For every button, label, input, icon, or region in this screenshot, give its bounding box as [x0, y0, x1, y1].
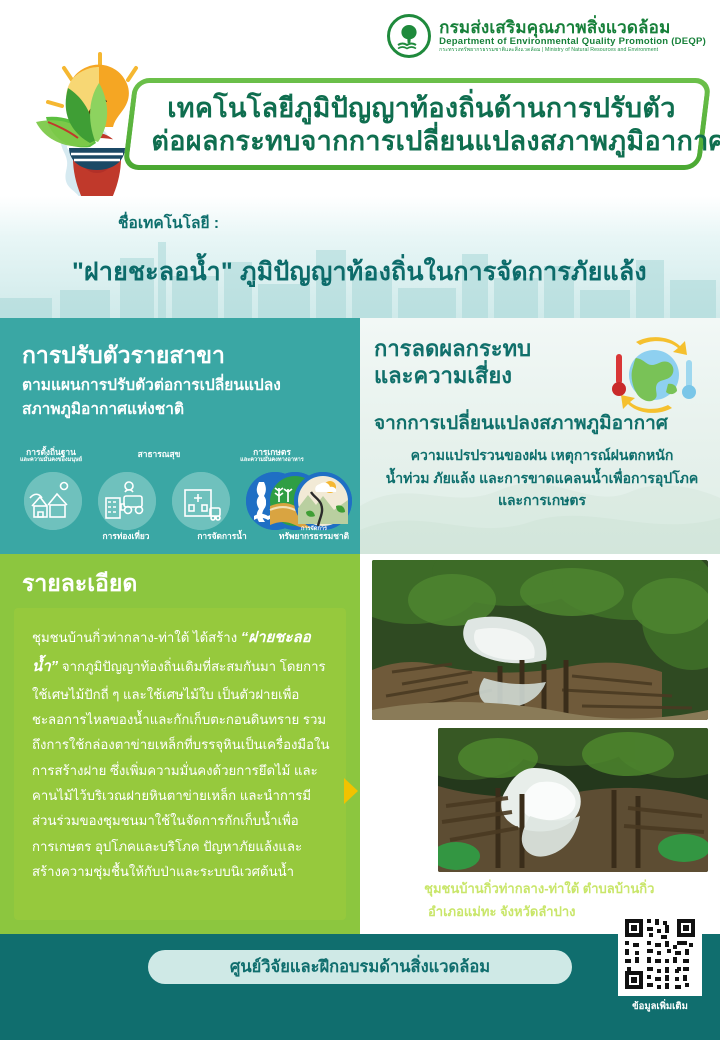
details-text-part1: ชุมชนบ้านกิ่วท่ากลาง-ท่าใต้ ได้สร้าง [32, 630, 241, 645]
details-title: รายละเอียด [22, 566, 137, 602]
sector-label-public-health: สาธารณสุข [116, 450, 202, 459]
qr-code-block[interactable]: ข้อมูลเพิ่มเติม [614, 912, 706, 1014]
qr-code-icon[interactable] [618, 912, 702, 996]
footer-organization-label: ศูนย์วิจัยและฝึกอบรมด้านสิ่งแวดล้อม [230, 954, 490, 980]
deqp-ministry-line: กระทรวงทรัพยากรธรรมชาติและสิ่งแวดล้อม | … [439, 48, 706, 54]
deqp-name-english: Department of Environmental Quality Prom… [439, 37, 706, 47]
tourism-icon [98, 472, 156, 530]
impact-reduction-panel: การลดผลกระทบ และความเสี่ยง จากการเปลี่ยน… [360, 318, 720, 554]
location-line1-wrap: สถานที่ : ชุมชนบ้านกิ่วท่ากลาง-ท่าใต้ ตำ… [372, 878, 672, 901]
globe-thermometer-icon [606, 332, 702, 418]
sector-label-natural-resources: การจัดการ ทรัพยากรธรรมชาติ [268, 526, 360, 542]
photo-check-dam-close [438, 728, 708, 872]
impact-panel-body: ความแปรปรวนของฝน เหตุการณ์ฝนตกหนัก น้ำท่… [370, 444, 714, 512]
pointer-arrow-icon [344, 778, 358, 804]
poster-root: กรมส่งเสริมคุณภาพสิ่งแวดล้อม Department … [0, 0, 720, 1040]
technology-label: ชื่อเทคโนโลยี : [118, 210, 219, 235]
details-card: ชุมชนบ้านกิ่วท่ากลาง-ท่าใต้ ได้สร้าง “ฝา… [14, 608, 346, 920]
public-health-icon [172, 472, 230, 530]
location-line1: ชุมชนบ้านกิ่วท่ากลาง-ท่าใต้ ตำบลบ้านกิ่ว [424, 881, 654, 896]
impact-body-line3: และการเกษตร [370, 489, 714, 512]
sector-label-tourism: การท่องเที่ยว [78, 532, 174, 541]
impact-body-line1: ความแปรปรวนของฝน เหตุการณ์ฝนตกหนัก [370, 444, 714, 467]
deqp-text-block: กรมส่งเสริมคุณภาพสิ่งแวดล้อม Department … [439, 19, 706, 53]
details-panel: รายละเอียด ชุมชนบ้านกิ่วท่ากลาง-ท่าใต้ ไ… [0, 554, 360, 934]
deqp-seal-icon [387, 14, 431, 58]
sector-panel-title: การปรับตัวรายสาขา [22, 338, 225, 374]
sector-adaptation-panel: การปรับตัวรายสาขา ตามแผนการปรับตัวต่อการ… [0, 318, 360, 554]
sector-panel-subtitle: ตามแผนการปรับตัวต่อการเปลี่ยนแปลง สภาพภู… [22, 374, 348, 422]
sector-label-settlement: การตั้งถิ่นฐาน และความมั่นคงของมนุษย์ [8, 448, 94, 464]
main-title-line2: ต่อผลกระทบจากการเปลี่ยนแปลงสภาพภูมิอากาศ [151, 125, 691, 158]
settlement-icon [24, 472, 82, 530]
details-body-text: ชุมชนบ้านกิ่วท่ากลาง-ท่าใต้ ได้สร้าง “ฝา… [14, 608, 346, 884]
poster-header: กรมส่งเสริมคุณภาพสิ่งแวดล้อม Department … [0, 0, 720, 196]
main-title-ribbon: เทคโนโลยีภูมิปัญญาท้องถิ่นด้านการปรับตัว… [122, 78, 711, 170]
impact-title-line2: และความเสี่ยง [374, 363, 531, 390]
qr-code-caption: ข้อมูลเพิ่มเติม [614, 999, 706, 1014]
poster-footer: สถานที่ : ชุมชนบ้านกิ่วท่ากลาง-ท่าใต้ ตำ… [0, 934, 720, 1040]
impact-body-line2: น้ำท่วม ภัยแล้ง และการขาดแคลนน้ำเพื่อการ… [370, 467, 714, 490]
sector-label-agriculture: การเกษตร และความมั่นคงทางอาหาร [224, 448, 320, 464]
sector-label-water-management: การจัดการน้ำ [174, 532, 270, 541]
deqp-logo: กรมส่งเสริมคุณภาพสิ่งแวดล้อม Department … [387, 14, 706, 58]
details-text-part2: จากภูมิปัญญาท้องถิ่นเดิมที่สะสมกันมา โดย… [32, 659, 330, 879]
technology-name-band: ชื่อเทคโนโลยี : "ฝายชะลอน้ำ" ภูมิปัญญาท้… [0, 196, 720, 318]
location-label: สถานที่ : [372, 881, 421, 896]
impact-title-line1: การลดผลกระทบ [374, 336, 531, 363]
natural-resources-icon [294, 472, 352, 530]
technology-name: "ฝายชะลอน้ำ" ภูมิปัญญาท้องถิ่นในการจัดกา… [72, 252, 702, 292]
main-title-line1: เทคโนโลยีภูมิปัญญาท้องถิ่นด้านการปรับตัว [151, 92, 691, 125]
footer-organization-pill[interactable]: ศูนย์วิจัยและฝึกอบรมด้านสิ่งแวดล้อม [148, 950, 572, 984]
impact-panel-title: การลดผลกระทบ และความเสี่ยง [374, 336, 531, 390]
sector-icons-row: การตั้งถิ่นฐาน และความมั่นคงของมนุษย์ สา… [6, 450, 358, 546]
photo-check-dam-wide [372, 560, 708, 720]
deqp-name-thai: กรมส่งเสริมคุณภาพสิ่งแวดล้อม [439, 19, 706, 37]
